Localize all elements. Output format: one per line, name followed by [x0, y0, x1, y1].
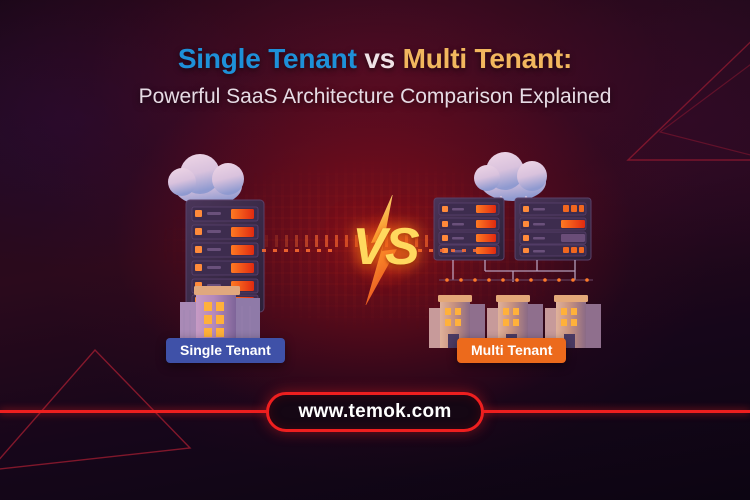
multi-tenant-diagram	[425, 140, 605, 355]
status-badge-multi-tenant: Multi Tenant	[457, 338, 566, 363]
website-url-text: www.temok.com	[298, 401, 451, 423]
connector-dots-left	[262, 249, 334, 252]
connection-lines	[453, 260, 575, 282]
vs-label: VS	[337, 221, 433, 273]
page-subtitle: Powerful SaaS Architecture Comparison Ex…	[0, 85, 750, 109]
server-rack-icon	[515, 198, 591, 260]
title-single-tenant: Single Tenant	[178, 43, 357, 74]
website-url-pill[interactable]: www.temok.com	[266, 392, 484, 432]
title-vs-word: vs	[364, 43, 395, 74]
header-block: Single Tenant vs Multi Tenant: Powerful …	[0, 42, 750, 109]
vs-badge: VS	[337, 195, 433, 305]
multi-tenant-graphic	[425, 140, 605, 355]
status-badge-single-tenant: Single Tenant	[166, 338, 285, 363]
title-multi-tenant: Multi Tenant:	[403, 43, 573, 74]
banner-canvas: Single Tenant vs Multi Tenant: Powerful …	[0, 0, 750, 500]
page-title: Single Tenant vs Multi Tenant:	[0, 42, 750, 76]
connection-bus	[439, 278, 593, 282]
single-tenant-diagram	[150, 140, 300, 355]
single-tenant-graphic	[150, 140, 300, 355]
